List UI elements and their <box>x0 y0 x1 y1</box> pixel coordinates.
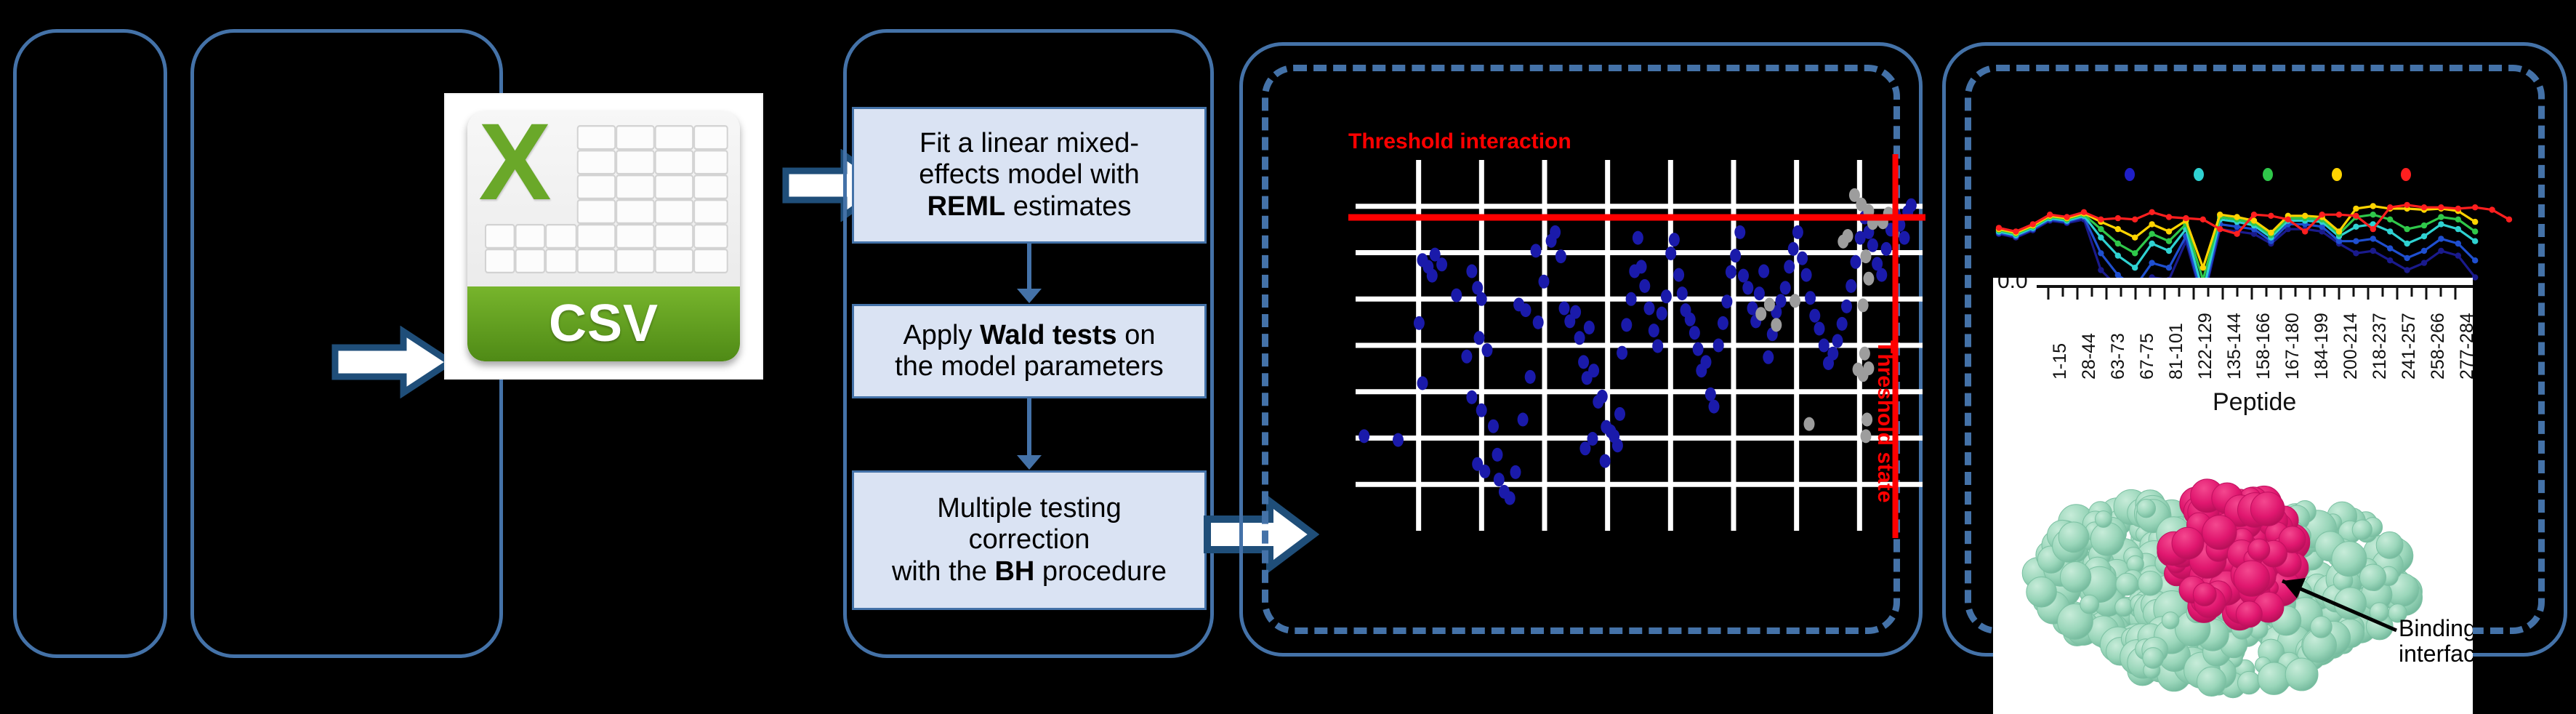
scatter-svg <box>1348 153 1930 538</box>
threshold-interaction-text: Threshold interaction <box>1348 129 1571 153</box>
step-bh-pre: with the <box>892 556 995 587</box>
binding-caption-line1: Binding <box>2399 616 2473 641</box>
excel-x-letter: X <box>478 111 551 215</box>
step-bh-line1: Multiple testing <box>937 493 1121 524</box>
step-wald-text: Apply Wald tests on the model parameters <box>895 320 1164 383</box>
peptide-tick-218-237: 218-237 <box>2370 313 2391 380</box>
connector-reml-to-wald <box>1027 244 1031 289</box>
flowchart-figure: X CSV Fit a linear mixed- effects model … <box>0 0 2576 687</box>
peptide-tick-277-284: 277-284 <box>2457 313 2473 380</box>
empty-panel-1 <box>13 29 167 658</box>
protein-structure-panel: 0.0 1-1528-4463-7367-75 <box>1993 278 2473 714</box>
step-reml-text: Fit a linear mixed- effects model with R… <box>919 128 1139 222</box>
peptide-tick-135-144: 135-144 <box>2224 313 2245 380</box>
peptide-tick-1-15: 1-15 <box>2050 343 2071 380</box>
threshold-interaction-label: Threshold interaction <box>1348 129 1571 154</box>
step-reml-box[interactable]: Fit a linear mixed- effects model with R… <box>852 107 1207 244</box>
volcano-scatter-plot: Threshold interaction Threshold state <box>1348 153 1930 538</box>
step-bh-keyword: BH <box>994 556 1034 587</box>
connector-arrowhead-2 <box>1017 455 1042 470</box>
threshold-state-label: Threshold state <box>1872 340 1897 502</box>
peptide-tick-67-75: 67-75 <box>2137 333 2158 380</box>
step-reml-line2: effects model with <box>919 159 1139 190</box>
step-bh-text: Multiple testing correction with the BH … <box>892 493 1167 587</box>
step-bh-box[interactable]: Multiple testing correction with the BH … <box>852 470 1207 610</box>
step-wald-line2: the model parameters <box>895 351 1164 382</box>
binding-interface-caption: Binding interface <box>2399 616 2473 667</box>
step-reml-line3-rest: estimates <box>1005 191 1131 222</box>
csv-file-icon: X CSV <box>446 95 762 378</box>
csv-extension-label: CSV <box>549 294 659 353</box>
peptide-tick-158-166: 158-166 <box>2253 313 2274 380</box>
step-bh-post: procedure <box>1034 556 1167 587</box>
csv-extension-band: CSV <box>467 286 739 361</box>
csv-icon-body: X CSV <box>467 111 739 361</box>
step-bh-line2: correction <box>969 524 1090 555</box>
peptide-tick-200-214: 200-214 <box>2340 313 2362 380</box>
peptide-tick-63-73: 63-73 <box>2108 333 2129 380</box>
step-wald-keyword: Wald tests <box>980 320 1117 350</box>
step-reml-line1: Fit a linear mixed- <box>919 128 1139 159</box>
binding-caption-line2: interface <box>2399 641 2473 667</box>
peptide-tick-122-129: 122-129 <box>2195 313 2216 380</box>
protein-surface-illustration <box>1993 412 2473 714</box>
threshold-state-text: Threshold state <box>1873 340 1897 502</box>
connector-arrowhead-1 <box>1017 289 1042 303</box>
peptide-tick-258-266: 258-266 <box>2428 313 2449 380</box>
peptide-tick-184-199: 184-199 <box>2311 313 2333 380</box>
step-reml-keyword: REML <box>927 191 1006 222</box>
peptide-tick-241-257: 241-257 <box>2399 313 2420 380</box>
peptide-tick-81-101: 81-101 <box>2166 323 2187 380</box>
peptide-tick-28-44: 28-44 <box>2079 333 2100 380</box>
connector-wald-to-bh <box>1027 398 1031 455</box>
step-wald-pre: Apply <box>903 320 980 350</box>
peptide-tick-167-180: 167-180 <box>2282 313 2303 380</box>
step-wald-post: on <box>1117 320 1156 350</box>
step-wald-box[interactable]: Apply Wald tests on the model parameters <box>852 304 1207 398</box>
